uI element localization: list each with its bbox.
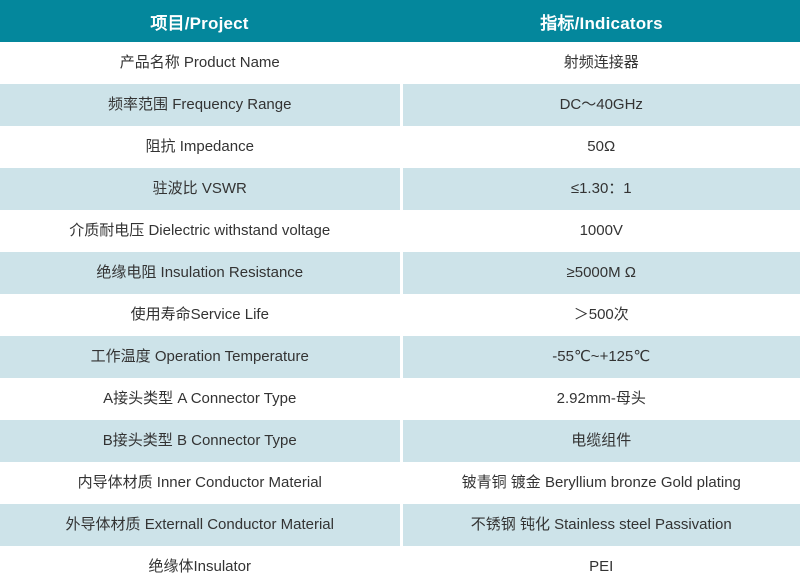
table-row: 介质耐电压 Dielectric withstand voltage1000V (0, 210, 800, 252)
cell-project: A接头类型 A Connector Type (0, 378, 401, 420)
column-header-indicator: 指标/Indicators (401, 0, 800, 42)
cell-project: 工作温度 Operation Temperature (0, 336, 401, 378)
table-header-row: 项目/Project 指标/Indicators (0, 0, 800, 42)
cell-project: 绝缘电阻 Insulation Resistance (0, 252, 401, 294)
specification-table: 项目/Project 指标/Indicators 产品名称 Product Na… (0, 0, 800, 588)
table-row: B接头类型 B Connector Type电缆组件 (0, 420, 800, 462)
cell-project: 使用寿命Service Life (0, 294, 401, 336)
cell-project: B接头类型 B Connector Type (0, 420, 401, 462)
table-row: 绝缘体InsulatorPEI (0, 546, 800, 588)
cell-project: 介质耐电压 Dielectric withstand voltage (0, 210, 401, 252)
table-row: 绝缘电阻 Insulation Resistance≥5000M Ω (0, 252, 800, 294)
table-row: 产品名称 Product Name射频连接器 (0, 42, 800, 84)
cell-indicator: ＞500次 (401, 294, 800, 336)
cell-project: 绝缘体Insulator (0, 546, 401, 588)
table-row: 频率范围 Frequency RangeDC～40GHz (0, 84, 800, 126)
cell-indicator: -55℃~+125℃ (401, 336, 800, 378)
table-row: 使用寿命Service Life＞500次 (0, 294, 800, 336)
table-header: 项目/Project 指标/Indicators (0, 0, 800, 42)
cell-project: 外导体材质 Externall Conductor Material (0, 504, 401, 546)
table-row: A接头类型 A Connector Type2.92mm-母头 (0, 378, 800, 420)
table-row: 外导体材质 Externall Conductor Material不锈钢 钝化… (0, 504, 800, 546)
table-row: 工作温度 Operation Temperature-55℃~+125℃ (0, 336, 800, 378)
column-header-project: 项目/Project (0, 0, 401, 42)
cell-indicator: 1000V (401, 210, 800, 252)
cell-indicator: ≤1.30：1 (401, 168, 800, 210)
cell-indicator: ≥5000M Ω (401, 252, 800, 294)
table-body: 产品名称 Product Name射频连接器频率范围 Frequency Ran… (0, 42, 800, 588)
cell-indicator: DC～40GHz (401, 84, 800, 126)
cell-indicator: 2.92mm-母头 (401, 378, 800, 420)
cell-indicator: 电缆组件 (401, 420, 800, 462)
cell-project: 阻抗 Impedance (0, 126, 401, 168)
cell-indicator: PEI (401, 546, 800, 588)
cell-indicator: 铍青铜 镀金 Beryllium bronze Gold plating (401, 462, 800, 504)
cell-project: 产品名称 Product Name (0, 42, 401, 84)
cell-project: 驻波比 VSWR (0, 168, 401, 210)
cell-project: 内导体材质 Inner Conductor Material (0, 462, 401, 504)
table-row: 阻抗 Impedance50Ω (0, 126, 800, 168)
table-row: 内导体材质 Inner Conductor Material铍青铜 镀金 Ber… (0, 462, 800, 504)
cell-indicator: 50Ω (401, 126, 800, 168)
cell-indicator: 不锈钢 钝化 Stainless steel Passivation (401, 504, 800, 546)
cell-indicator: 射频连接器 (401, 42, 800, 84)
cell-project: 频率范围 Frequency Range (0, 84, 401, 126)
table-row: 驻波比 VSWR≤1.30：1 (0, 168, 800, 210)
